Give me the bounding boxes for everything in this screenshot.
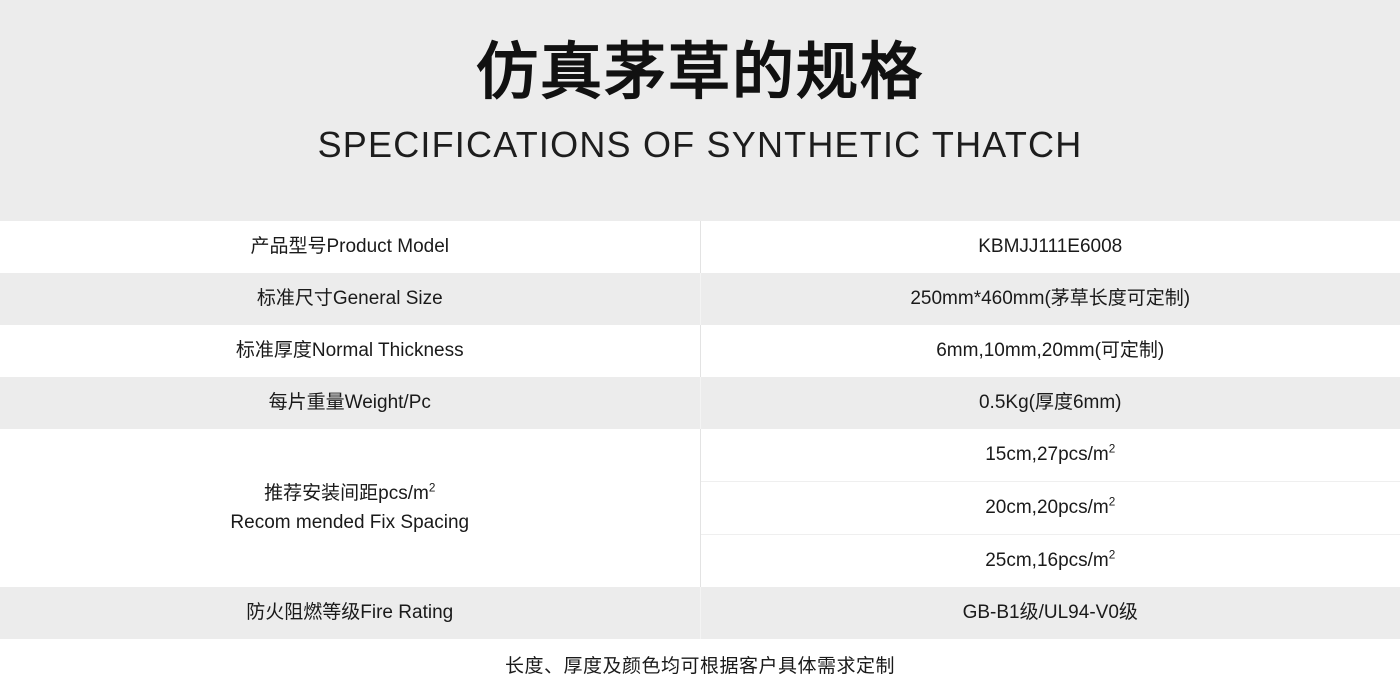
table-row: 标准厚度Normal Thickness 6mm,10mm,20mm(可定制) [0, 325, 1400, 377]
spec-value-normal-thickness: 6mm,10mm,20mm(可定制) [700, 325, 1400, 377]
footer-note-text: 长度、厚度及颜色均可根据客户具体需求定制 [505, 651, 895, 678]
square-meter-superscript: 2 [1109, 549, 1116, 562]
table-row: 推荐安装间距pcs/m2 Recom mended Fix Spacing 15… [0, 429, 1400, 482]
spec-value-fix-spacing-25cm: 25cm,16pcs/m2 [700, 535, 1400, 588]
spec-label-fire-rating: 防火阻燃等级Fire Rating [0, 587, 700, 639]
spec-label-normal-thickness: 标准厚度Normal Thickness [0, 325, 700, 377]
spec-value-product-model: KBMJJ111E6008 [700, 221, 1400, 273]
fix-spacing-25cm-text: 25cm,16pcs/m [985, 550, 1109, 571]
spec-value-fix-spacing-15cm: 15cm,27pcs/m2 [700, 429, 1400, 482]
page-title-chinese: 仿真茅草的规格 [476, 36, 924, 109]
spec-value-weight-per-pc: 0.5Kg(厚度6mm) [700, 377, 1400, 429]
page-title-english: SPECIFICATIONS OF SYNTHETIC THATCH [318, 123, 1083, 166]
specifications-table: 产品型号Product Model KBMJJ111E6008 标准尺寸Gene… [0, 221, 1400, 639]
spec-value-general-size: 250mm*460mm(茅草长度可定制) [700, 273, 1400, 325]
fix-spacing-label-line1: 推荐安装间距pcs/m2 [0, 479, 700, 508]
fix-spacing-20cm-text: 20cm,20pcs/m [985, 497, 1109, 518]
page-header: 仿真茅草的规格 SPECIFICATIONS OF SYNTHETIC THAT… [0, 0, 1400, 221]
table-row: 每片重量Weight/Pc 0.5Kg(厚度6mm) [0, 377, 1400, 429]
spec-value-fire-rating: GB-B1级/UL94-V0级 [700, 587, 1400, 639]
table-row: 防火阻燃等级Fire Rating GB-B1级/UL94-V0级 [0, 587, 1400, 639]
fix-spacing-label-line1-text: 推荐安装间距pcs/m [264, 483, 429, 504]
spec-value-fix-spacing-20cm: 20cm,20pcs/m2 [700, 482, 1400, 535]
table-row: 标准尺寸General Size 250mm*460mm(茅草长度可定制) [0, 273, 1400, 325]
specification-page: 仿真茅草的规格 SPECIFICATIONS OF SYNTHETIC THAT… [0, 0, 1400, 682]
square-meter-superscript: 2 [1109, 496, 1116, 509]
square-meter-superscript: 2 [429, 481, 436, 494]
spec-label-product-model: 产品型号Product Model [0, 221, 700, 273]
fix-spacing-label-line2: Recom mended Fix Spacing [0, 508, 700, 537]
spec-label-fix-spacing: 推荐安装间距pcs/m2 Recom mended Fix Spacing [0, 429, 700, 587]
square-meter-superscript: 2 [1109, 443, 1116, 456]
spec-label-general-size: 标准尺寸General Size [0, 273, 700, 325]
table-row: 产品型号Product Model KBMJJ111E6008 [0, 221, 1400, 273]
spec-label-weight-per-pc: 每片重量Weight/Pc [0, 377, 700, 429]
fix-spacing-15cm-text: 15cm,27pcs/m [985, 444, 1109, 465]
